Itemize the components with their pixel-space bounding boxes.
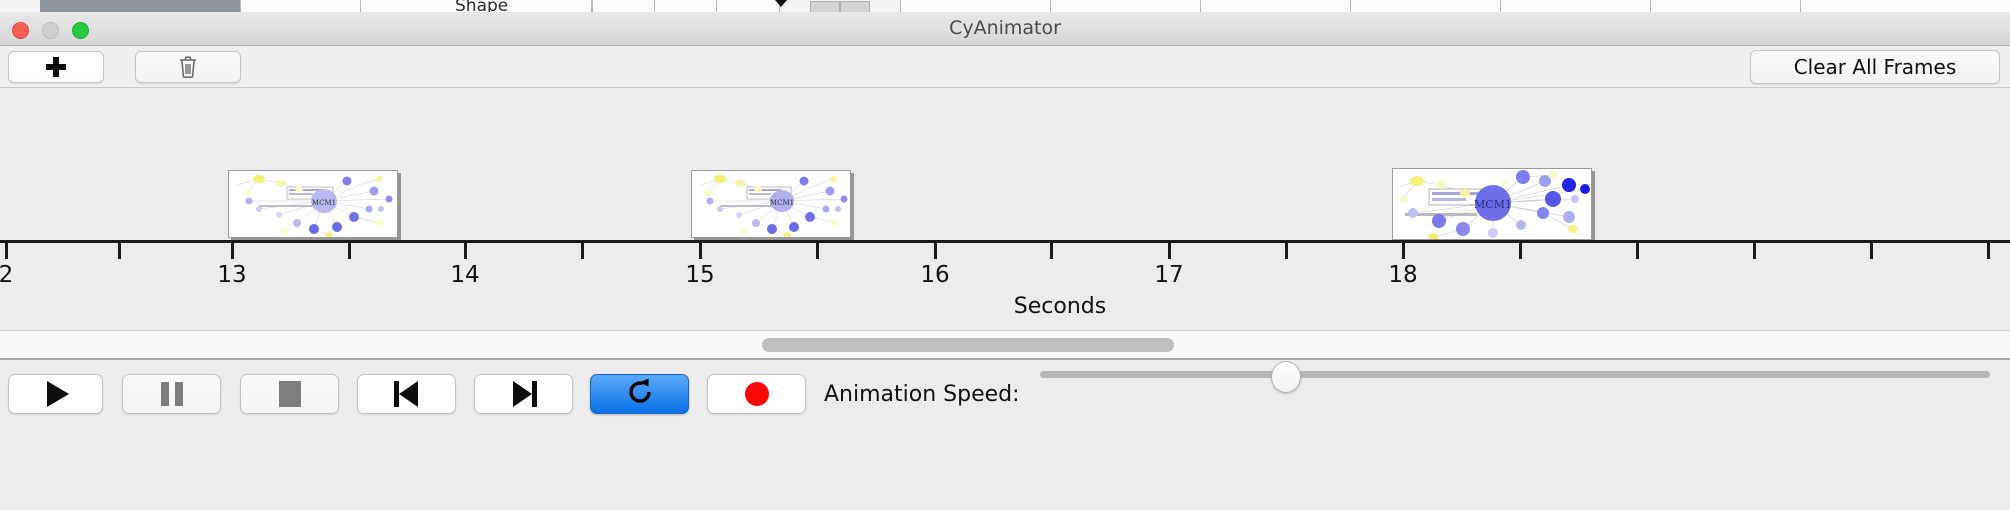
svg-text:MCM1: MCM1 — [1474, 198, 1512, 211]
record-icon — [745, 382, 769, 406]
toolbar: Clear All Frames — [0, 46, 2010, 88]
skip-forward-icon — [511, 381, 537, 407]
timeline-tick — [934, 243, 937, 259]
timeline-tick — [1050, 243, 1053, 259]
background-arrow-icon — [775, 0, 787, 7]
animation-speed-label: Animation Speed: — [824, 382, 1020, 407]
background-tab — [240, 0, 362, 12]
background-dark-block — [40, 0, 240, 12]
svg-text:MCM1: MCM1 — [312, 199, 336, 207]
frame-thumbnail-2[interactable]: MCM1 — [691, 170, 851, 238]
animation-speed-slider-track[interactable] — [1040, 371, 1990, 378]
background-tab — [1350, 0, 1502, 12]
timeline-tick-label: 16 — [905, 262, 965, 288]
play-icon — [47, 381, 69, 407]
background-tab — [1800, 0, 2010, 12]
timeline-tick — [1987, 243, 1990, 259]
axis-title: Seconds — [0, 294, 2010, 319]
frame-thumbnail-1[interactable]: MCM1 — [228, 170, 398, 238]
background-tab — [1200, 0, 1352, 12]
background-app-label: Shape — [455, 0, 508, 12]
plus-icon — [46, 57, 66, 77]
playback-control-bar: Animation Speed: — [0, 358, 2010, 510]
timeline-tick — [816, 243, 819, 259]
timeline-tick-label: 14 — [435, 262, 495, 288]
background-tab — [1650, 0, 1802, 12]
frame-thumbnail-3[interactable]: MCM1 — [1392, 168, 1592, 240]
timeline-tick-label: 18 — [1373, 262, 1433, 288]
background-tab — [716, 0, 780, 12]
background-tab — [654, 0, 718, 12]
background-tab — [592, 0, 656, 12]
timeline-tick-label: 17 — [1139, 262, 1199, 288]
timeline-tick-label: 13 — [202, 262, 262, 288]
timeline-tick — [1870, 243, 1873, 259]
pause-icon — [161, 382, 183, 406]
background-app-strip: Shape — [0, 0, 2010, 12]
stop-button[interactable] — [240, 374, 339, 414]
timeline-tick — [1753, 243, 1756, 259]
timeline-tick — [581, 243, 584, 259]
window-title: CyAnimator — [0, 12, 2010, 45]
timeline-tick — [699, 243, 702, 259]
svg-text:MCM1: MCM1 — [770, 199, 794, 207]
skip-forward-button[interactable] — [474, 374, 573, 414]
timeline-scrollbar-track[interactable] — [0, 330, 2010, 359]
timeline-scrollbar-thumb[interactable] — [762, 338, 1174, 352]
background-box — [810, 1, 840, 12]
title-bar: CyAnimator — [0, 12, 2010, 46]
pause-button[interactable] — [122, 374, 221, 414]
background-tab — [900, 0, 1052, 12]
timeline-tick-label: 15 — [670, 262, 730, 288]
timeline-tick — [1285, 243, 1288, 259]
add-frame-button[interactable] — [8, 51, 104, 83]
background-tab — [1050, 0, 1202, 12]
timeline-axis — [0, 240, 2010, 243]
loop-icon — [626, 378, 654, 410]
skip-back-icon — [394, 381, 420, 407]
stop-icon — [279, 381, 301, 407]
delete-frame-button[interactable] — [135, 51, 241, 83]
timeline-tick — [118, 243, 121, 259]
timeline-tick — [464, 243, 467, 259]
background-tab — [1500, 0, 1652, 12]
record-button[interactable] — [707, 374, 806, 414]
timeline-tick — [1519, 243, 1522, 259]
background-box — [840, 1, 870, 12]
play-button[interactable] — [8, 374, 103, 414]
timeline-panel[interactable]: MCM1 — [0, 88, 2010, 330]
loop-button[interactable] — [590, 374, 689, 414]
timeline-tick — [231, 243, 234, 259]
timeline-tick — [5, 243, 8, 259]
cyanimator-window: Shape CyAnimator — [0, 0, 2010, 510]
clear-all-frames-label: Clear All Frames — [1794, 55, 1957, 79]
timeline-tick — [1636, 243, 1639, 259]
timeline-tick — [1168, 243, 1171, 259]
timeline-tick-label: 2 — [0, 262, 36, 288]
timeline-tick — [348, 243, 351, 259]
clear-all-frames-button[interactable]: Clear All Frames — [1750, 50, 2000, 84]
trash-icon — [178, 55, 198, 79]
skip-back-button[interactable] — [357, 374, 456, 414]
timeline-tick — [1402, 243, 1405, 259]
animation-speed-slider-thumb[interactable] — [1271, 361, 1301, 393]
